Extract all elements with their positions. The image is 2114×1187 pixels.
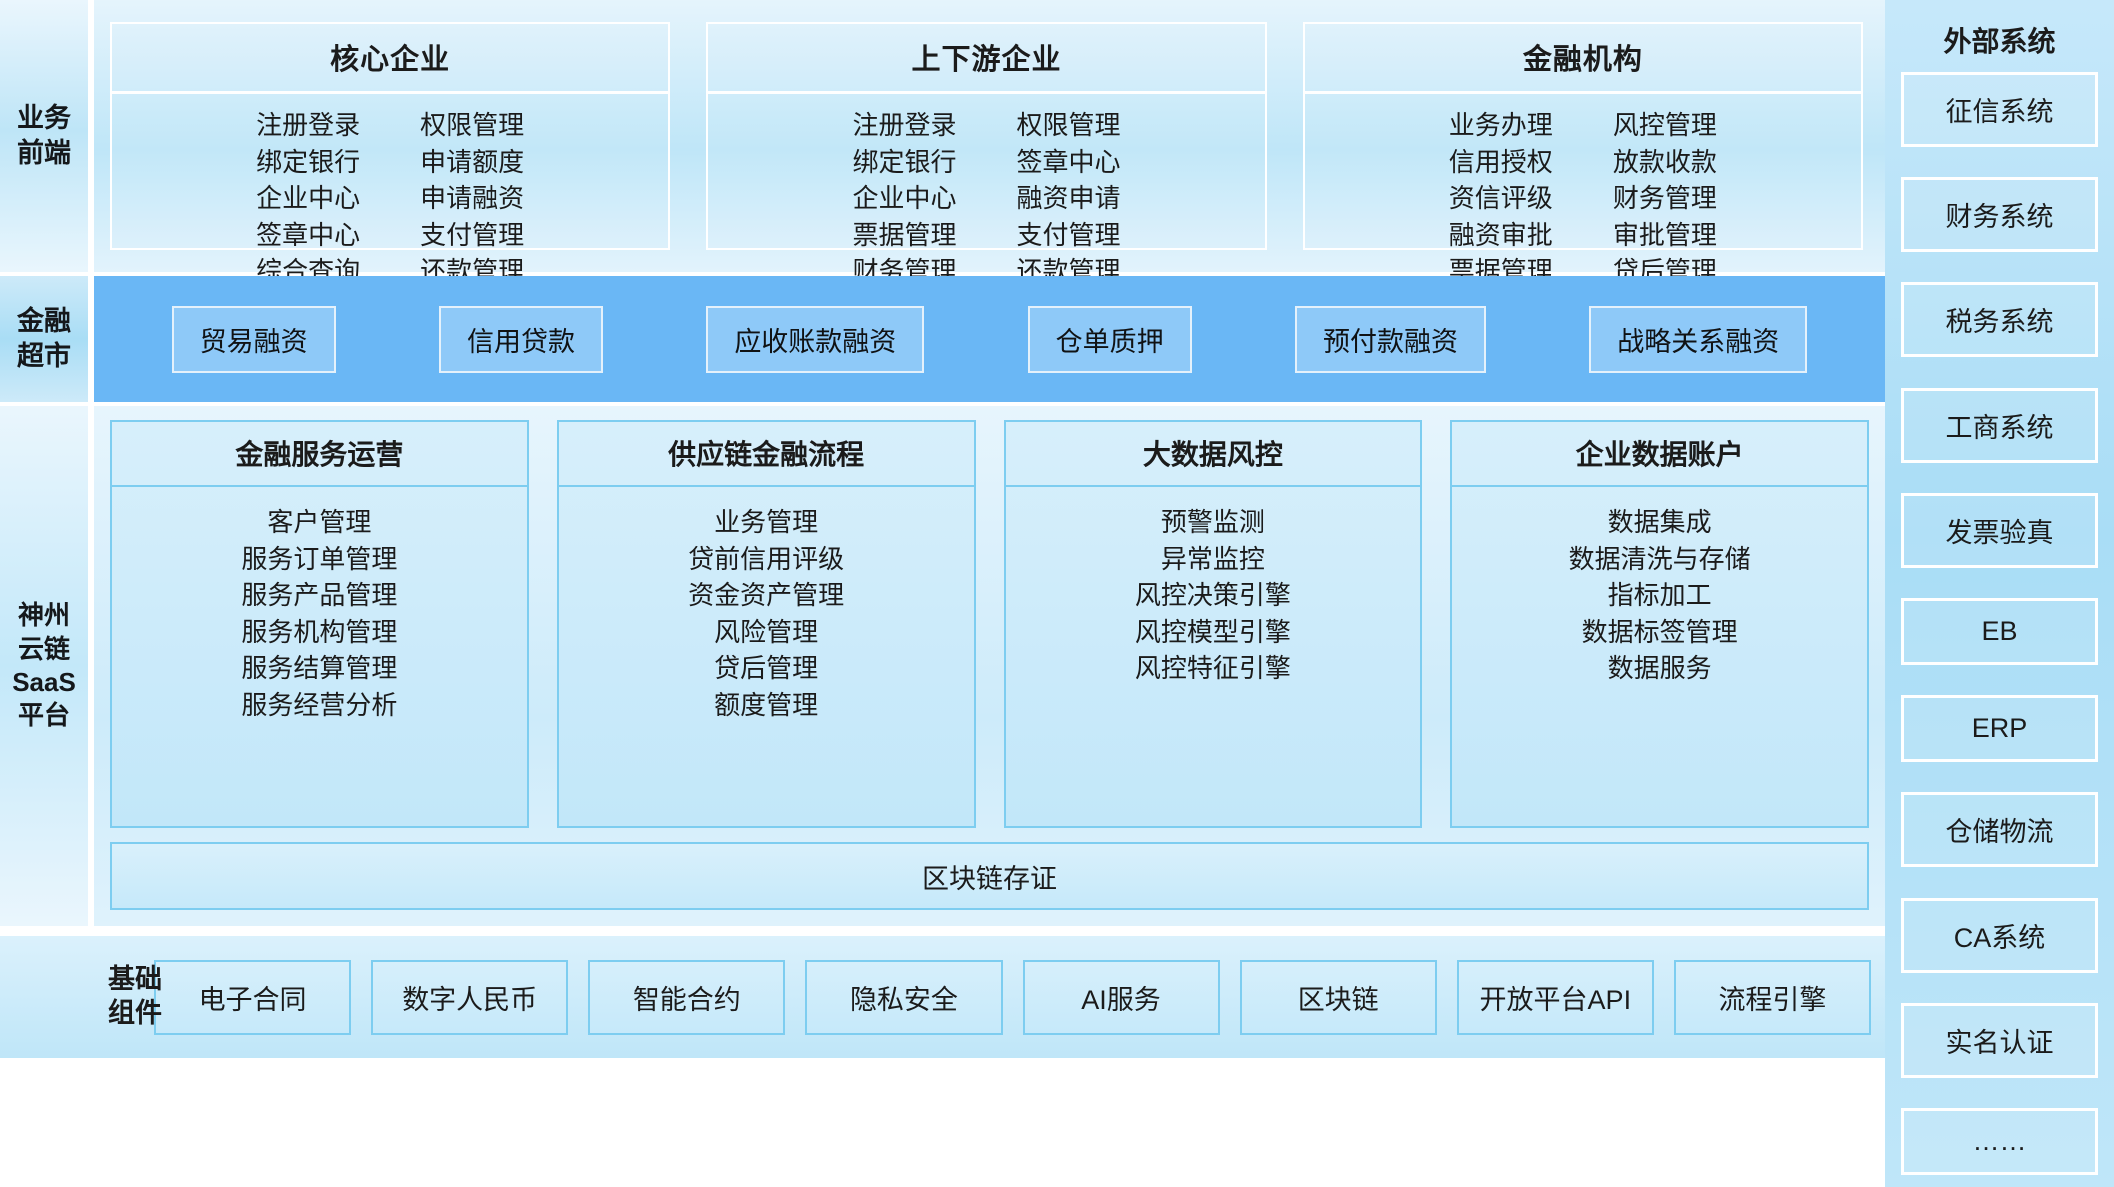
list-item: 贷前信用评级	[688, 542, 844, 577]
saas-card-title: 大数据风控	[1006, 422, 1421, 487]
list-item: 数据标签管理	[1582, 615, 1738, 650]
list-item: 风险管理	[714, 615, 818, 650]
list-item: 预警监测	[1161, 505, 1265, 540]
list-item: 服务机构管理	[241, 615, 397, 650]
band-body-financial-supermarket: 贸易融资 信用贷款 应收账款融资 仓单质押 预付款融资 战略关系融资	[94, 276, 1885, 402]
band-label-business-frontend: 业务 前端	[0, 0, 88, 272]
list-item: 客户管理	[267, 505, 371, 540]
external-chip-business-registration-system[interactable]: 工商系统	[1901, 388, 2098, 463]
band-body-saas-platform: 金融服务运营 客户管理 服务订单管理 服务产品管理 服务机构管理 服务结算管理 …	[94, 406, 1885, 926]
list-item: 绑定银行	[256, 145, 360, 180]
front-card-title: 核心企业	[112, 24, 668, 94]
external-chip-real-name-authentication[interactable]: 实名认证	[1901, 1003, 2098, 1078]
external-chip-ca-system[interactable]: CA系统	[1901, 898, 2098, 973]
band-label-saas-platform: 神州 云链 SaaS 平台	[0, 406, 88, 926]
band-label-line-2: 前端	[17, 136, 71, 171]
list-item: 权限管理	[420, 108, 524, 143]
external-systems-column: 外部系统 征信系统 财务系统 税务系统 工商系统 发票验真 EB ERP 仓储物…	[1885, 0, 2114, 1187]
blockchain-evidence-bar[interactable]: 区块链存证	[110, 842, 1869, 910]
band-label-line-3: SaaS	[12, 666, 76, 699]
saas-card-title: 供应链金融流程	[559, 422, 974, 487]
band-label-line-4: 平台	[12, 699, 76, 732]
market-chip-strategic-relationship-finance[interactable]: 战略关系融资	[1589, 306, 1807, 373]
band-saas-platform: 神州 云链 SaaS 平台 金融服务运营 客户管理 服务订单管理 服务产品管理 …	[0, 406, 1885, 926]
front-card-core-enterprise[interactable]: 核心企业 注册登录 绑定银行 企业中心 签章中心 综合查询 权限管理 申请额度	[110, 22, 670, 250]
list-item: 服务产品管理	[241, 578, 397, 613]
list-item: 服务结算管理	[241, 651, 397, 686]
front-card-column-2: 权限管理 申请额度 申请融资 支付管理 还款管理	[420, 108, 524, 289]
saas-card-body: 数据集成 数据清洗与存储 指标加工 数据标签管理 数据服务	[1452, 487, 1867, 826]
base-chip-process-engine[interactable]: 流程引擎	[1674, 960, 1871, 1035]
band-label-line-1: 金融	[17, 304, 71, 339]
front-card-column-2: 权限管理 签章中心 融资申请 支付管理 还款管理	[1016, 108, 1120, 289]
list-item: 指标加工	[1608, 578, 1712, 613]
front-card-column-2: 风控管理 放款收款 财务管理 审批管理 贷后管理	[1613, 108, 1717, 289]
band-body-business-frontend: 核心企业 注册登录 绑定银行 企业中心 签章中心 综合查询 权限管理 申请额度	[94, 0, 1885, 272]
external-chip-invoice-verification[interactable]: 发票验真	[1901, 493, 2098, 568]
band-label-line-1: 业务	[17, 101, 71, 136]
list-item: 资金资产管理	[688, 578, 844, 613]
front-card-upstream-downstream-enterprise[interactable]: 上下游企业 注册登录 绑定银行 企业中心 票据管理 财务管理 权限管理 签章中心	[706, 22, 1266, 250]
front-card-financial-institution[interactable]: 金融机构 业务办理 信用授权 资信评级 融资审批 票据管理 风控管理 放款收款	[1303, 22, 1863, 250]
list-item: 财务管理	[1613, 181, 1717, 216]
band-label-financial-supermarket: 金融 超市	[0, 276, 88, 402]
list-item: 风控管理	[1613, 108, 1717, 143]
external-chip-finance-system[interactable]: 财务系统	[1901, 177, 2098, 252]
base-chip-ai-service[interactable]: AI服务	[1023, 960, 1220, 1035]
list-item: 申请融资	[420, 181, 524, 216]
list-item: 服务经营分析	[241, 688, 397, 723]
saas-card-big-data-risk-control[interactable]: 大数据风控 预警监测 异常监控 风控决策引擎 风控模型引擎 风控特征引擎	[1004, 420, 1423, 828]
market-chip-prepayment-finance[interactable]: 预付款融资	[1295, 306, 1486, 373]
front-card-column-1: 注册登录 绑定银行 企业中心 票据管理 财务管理	[852, 108, 956, 289]
band-base-components: 基础 组件 电子合同 数字人民币 智能合约 隐私安全 AI服务 区块链 开放平台…	[0, 936, 1885, 1058]
list-item: 资信评级	[1449, 181, 1553, 216]
front-card-title: 金融机构	[1305, 24, 1861, 94]
base-chip-privacy-security[interactable]: 隐私安全	[805, 960, 1002, 1035]
band-label-line-1: 基础	[108, 963, 162, 997]
list-item: 信用授权	[1449, 145, 1553, 180]
list-item: 放款收款	[1613, 145, 1717, 180]
list-item: 签章中心	[256, 218, 360, 253]
base-chip-digital-rmb[interactable]: 数字人民币	[371, 960, 568, 1035]
band-business-frontend: 业务 前端 核心企业 注册登录 绑定银行 企业中心 签章中心 综合查询	[0, 0, 1885, 272]
saas-card-supply-chain-finance-process[interactable]: 供应链金融流程 业务管理 贷前信用评级 资金资产管理 风险管理 贷后管理 额度管…	[557, 420, 976, 828]
list-item: 业务管理	[714, 505, 818, 540]
external-chip-eb[interactable]: EB	[1901, 598, 2098, 665]
external-systems-list: 征信系统 财务系统 税务系统 工商系统 发票验真 EB ERP 仓储物流 CA系…	[1901, 72, 2098, 1175]
band-label-line-2: 云链	[12, 633, 76, 666]
band-label-base-components: 基础 组件	[108, 963, 162, 1031]
saas-card-body: 预警监测 异常监控 风控决策引擎 风控模型引擎 风控特征引擎	[1006, 487, 1421, 826]
saas-card-title: 金融服务运营	[112, 422, 527, 487]
list-item: 绑定银行	[852, 145, 956, 180]
list-item: 审批管理	[1613, 218, 1717, 253]
band-financial-supermarket: 金融 超市 贸易融资 信用贷款 应收账款融资 仓单质押 预付款融资 战略关系融资	[0, 276, 1885, 402]
band-label-line-2: 组件	[108, 997, 162, 1031]
list-item: 支付管理	[420, 218, 524, 253]
front-card-body: 注册登录 绑定银行 企业中心 签章中心 综合查询 权限管理 申请额度 申请融资 …	[112, 94, 668, 295]
saas-card-financial-service-operation[interactable]: 金融服务运营 客户管理 服务订单管理 服务产品管理 服务机构管理 服务结算管理 …	[110, 420, 529, 828]
list-item: 业务办理	[1449, 108, 1553, 143]
list-item: 企业中心	[852, 181, 956, 216]
list-item: 服务订单管理	[241, 542, 397, 577]
list-item: 支付管理	[1016, 218, 1120, 253]
saas-card-title: 企业数据账户	[1452, 422, 1867, 487]
list-item: 权限管理	[1016, 108, 1120, 143]
front-card-body: 注册登录 绑定银行 企业中心 票据管理 财务管理 权限管理 签章中心 融资申请 …	[708, 94, 1264, 295]
external-chip-ellipsis[interactable]: ……	[1901, 1108, 2098, 1175]
base-chip-row: 电子合同 数字人民币 智能合约 隐私安全 AI服务 区块链 开放平台API 流程…	[98, 960, 1871, 1035]
front-card-body: 业务办理 信用授权 资信评级 融资审批 票据管理 风控管理 放款收款 财务管理 …	[1305, 94, 1861, 295]
front-card-column-1: 业务办理 信用授权 资信评级 融资审批 票据管理	[1449, 108, 1553, 289]
external-chip-tax-system[interactable]: 税务系统	[1901, 282, 2098, 357]
external-chip-credit-reporting-system[interactable]: 征信系统	[1901, 72, 2098, 147]
base-chip-open-platform-api[interactable]: 开放平台API	[1457, 960, 1654, 1035]
market-chip-trade-finance[interactable]: 贸易融资	[172, 306, 336, 373]
list-item: 数据集成	[1608, 505, 1712, 540]
saas-card-row: 金融服务运营 客户管理 服务订单管理 服务产品管理 服务机构管理 服务结算管理 …	[110, 420, 1869, 828]
list-item: 异常监控	[1161, 542, 1265, 577]
list-item: 申请额度	[420, 145, 524, 180]
market-chip-warehouse-receipt-pledge[interactable]: 仓单质押	[1028, 306, 1192, 373]
list-item: 数据清洗与存储	[1569, 542, 1751, 577]
saas-card-enterprise-data-account[interactable]: 企业数据账户 数据集成 数据清洗与存储 指标加工 数据标签管理 数据服务	[1450, 420, 1869, 828]
list-item: 融资审批	[1449, 218, 1553, 253]
list-item: 注册登录	[852, 108, 956, 143]
external-chip-warehouse-logistics[interactable]: 仓储物流	[1901, 792, 2098, 867]
saas-card-body: 业务管理 贷前信用评级 资金资产管理 风险管理 贷后管理 额度管理	[559, 487, 974, 826]
market-chip-receivables-finance[interactable]: 应收账款融资	[706, 306, 924, 373]
list-item: 风控模型引擎	[1135, 615, 1291, 650]
list-item: 贷后管理	[714, 651, 818, 686]
band-label-line-1: 神州	[12, 599, 76, 632]
front-card-column-1: 注册登录 绑定银行 企业中心 签章中心 综合查询	[256, 108, 360, 289]
list-item: 额度管理	[714, 688, 818, 723]
list-item: 风控决策引擎	[1135, 578, 1291, 613]
list-item: 签章中心	[1016, 145, 1120, 180]
list-item: 注册登录	[256, 108, 360, 143]
list-item: 数据服务	[1608, 651, 1712, 686]
saas-card-body: 客户管理 服务订单管理 服务产品管理 服务机构管理 服务结算管理 服务经营分析	[112, 487, 527, 826]
front-card-title: 上下游企业	[708, 24, 1264, 94]
list-item: 风控特征引擎	[1135, 651, 1291, 686]
architecture-diagram: 业务 前端 核心企业 注册登录 绑定银行 企业中心 签章中心 综合查询	[0, 0, 2114, 1187]
base-chip-smart-contract[interactable]: 智能合约	[588, 960, 785, 1035]
band-label-line-2: 超市	[17, 339, 71, 374]
list-item: 企业中心	[256, 181, 360, 216]
main-column: 业务 前端 核心企业 注册登录 绑定银行 企业中心 签章中心 综合查询	[0, 0, 1885, 1187]
market-chip-credit-loan[interactable]: 信用贷款	[439, 306, 603, 373]
list-item: 票据管理	[852, 218, 956, 253]
base-chip-blockchain[interactable]: 区块链	[1240, 960, 1437, 1035]
external-systems-title: 外部系统	[1901, 10, 2098, 72]
list-item: 融资申请	[1016, 181, 1120, 216]
base-chip-electronic-contract[interactable]: 电子合同	[154, 960, 351, 1035]
external-chip-erp[interactable]: ERP	[1901, 695, 2098, 762]
